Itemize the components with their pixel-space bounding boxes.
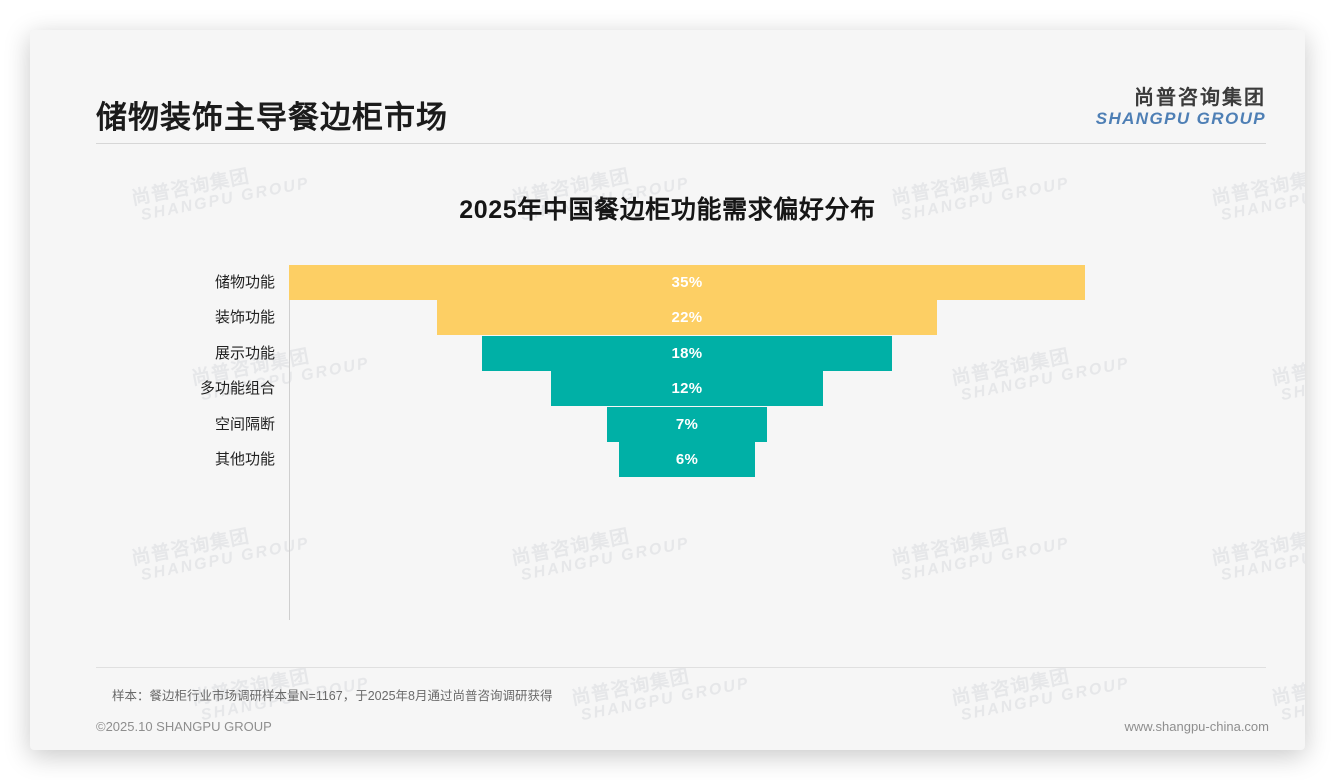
chart-bar-value: 7% [676, 416, 698, 433]
chart-category-label: 空间隔断 [30, 407, 275, 442]
watermark-text: 尚普咨询集团SHANGPU GROUP [1270, 656, 1305, 726]
footnote-text: 样本：餐边柜行业市场调研样本量N=1167，于2025年8月通过尚普咨询调研获得 [112, 685, 552, 704]
chart-bar-value: 18% [672, 345, 703, 362]
chart-bar-row: 其他功能6% [30, 442, 1305, 477]
chart-bar-value: 35% [672, 274, 703, 291]
chart-category-label: 多功能组合 [30, 371, 275, 406]
chart-title: 2025年中国餐边柜功能需求偏好分布 [30, 190, 1305, 226]
chart-bar-row: 多功能组合12% [30, 371, 1305, 406]
chart-bar[interactable]: 18% [482, 336, 891, 371]
footer-copyright: ©2025.10 SHANGPU GROUP [96, 719, 272, 734]
chart-bar[interactable]: 6% [619, 442, 755, 477]
chart-bar-value: 22% [672, 309, 703, 326]
footer-website: www.shangpu-china.com [1124, 719, 1269, 734]
header-divider [96, 143, 1266, 144]
chart-bar[interactable]: 22% [437, 300, 937, 335]
slide-header: 储物装饰主导餐边柜市场 尚普咨询集团 SHANGPU GROUP [96, 60, 1266, 150]
chart-bar-row: 展示功能18% [30, 336, 1305, 371]
chart-container: 2025年中国餐边柜功能需求偏好分布 储物功能35%装饰功能22%展示功能18%… [30, 140, 1305, 660]
chart-bar-row: 储物功能35% [30, 265, 1305, 300]
chart-bar-value: 6% [676, 451, 698, 468]
slide-root: 尚普咨询集团SHANGPU GROUP尚普咨询集团SHANGPU GROUP尚普… [0, 0, 1340, 780]
slide-card: 尚普咨询集团SHANGPU GROUP尚普咨询集团SHANGPU GROUP尚普… [30, 30, 1305, 750]
chart-bar[interactable]: 7% [607, 407, 766, 442]
chart-bar[interactable]: 12% [551, 371, 824, 406]
brand-logo: 尚普咨询集团 SHANGPU GROUP [1096, 87, 1266, 128]
brand-name-cn: 尚普咨询集团 [1096, 87, 1266, 109]
chart-bar-row: 空间隔断7% [30, 407, 1305, 442]
footnote-divider [96, 667, 1266, 668]
chart-category-label: 其他功能 [30, 442, 275, 477]
chart-category-label: 装饰功能 [30, 300, 275, 335]
chart-bar[interactable]: 35% [289, 265, 1085, 300]
chart-category-label: 展示功能 [30, 336, 275, 371]
chart-plot-area: 储物功能35%装饰功能22%展示功能18%多功能组合12%空间隔断7%其他功能6… [30, 265, 1305, 640]
chart-bar-row: 装饰功能22% [30, 300, 1305, 335]
chart-bar-value: 12% [672, 380, 703, 397]
brand-name-en: SHANGPU GROUP [1096, 109, 1266, 128]
chart-category-label: 储物功能 [30, 265, 275, 300]
page-title: 储物装饰主导餐边柜市场 [96, 92, 448, 137]
